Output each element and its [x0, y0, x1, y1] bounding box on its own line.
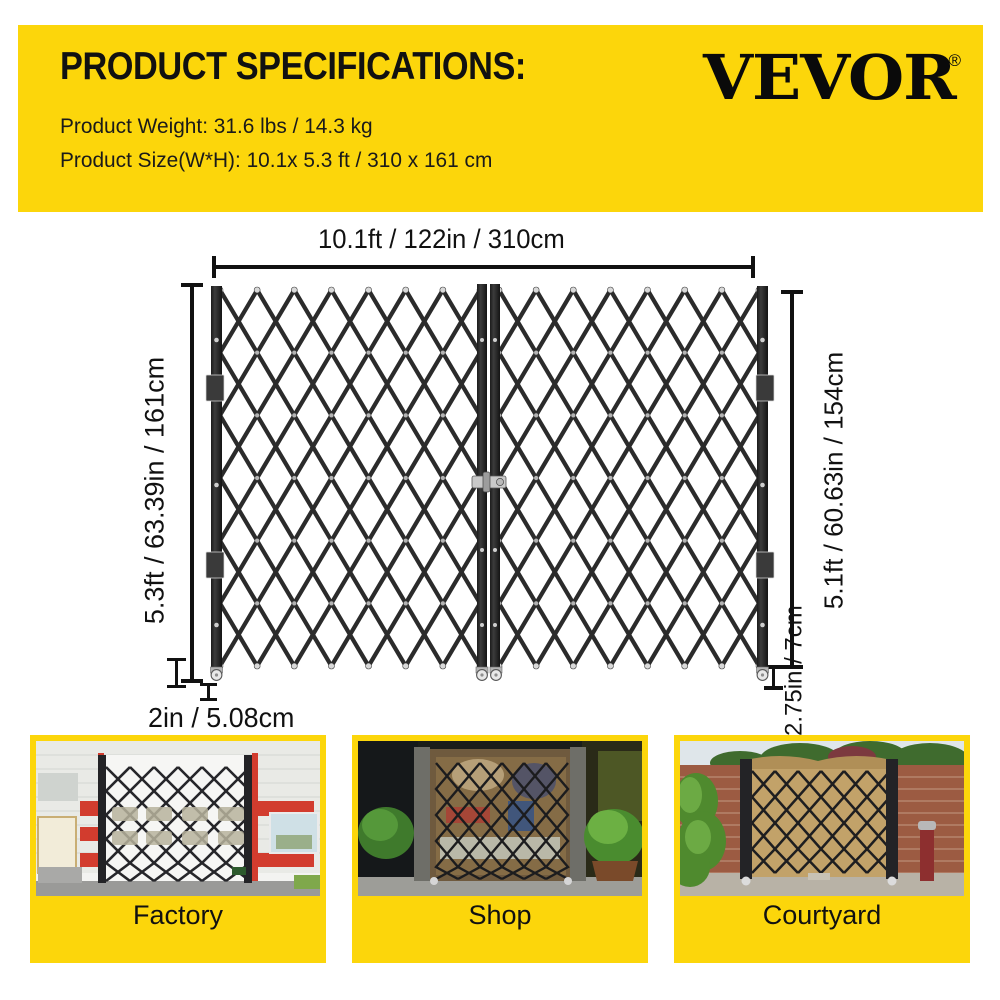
thumbnail-photo-shop	[358, 741, 642, 896]
lattice-panel-right	[496, 287, 762, 669]
top-dimension-cap-left	[212, 256, 216, 278]
thumbnail-card-factory[interactable]: Factory	[30, 735, 326, 963]
lattice-panel-left	[217, 287, 483, 669]
top-dimension-cap-right	[751, 256, 755, 278]
left-dimension-line	[190, 283, 194, 683]
top-dimension-line	[212, 265, 755, 269]
application-thumbnail-strip: Factory	[30, 735, 970, 963]
thumbnail-caption-courtyard: Courtyard	[674, 900, 970, 931]
thumbnail-photo-courtyard	[680, 741, 964, 896]
dimension-label-top-width: 10.1ft / 122in / 310cm	[318, 224, 565, 255]
dimension-label-post-width: 2in / 5.08cm	[148, 702, 294, 734]
thumbnail-photo-factory	[36, 741, 320, 896]
thumbnail-caption-factory: Factory	[30, 900, 326, 931]
header-banner: PRODUCT SPECIFICATIONS: Product Weight: …	[18, 25, 983, 212]
thumbnail-card-shop[interactable]: Shop	[352, 735, 648, 963]
post-width-dimension-cap-bottom	[200, 698, 217, 701]
dimension-label-right-height: 5.1ft / 60.63in / 154cm	[819, 281, 850, 681]
brand-name: VEVOR	[703, 47, 956, 109]
spec-product-size: Product Size(W*H): 10.1x 5.3 ft / 310 x …	[60, 148, 492, 173]
product-image-folding-gate	[200, 280, 800, 692]
thumbnail-card-courtyard[interactable]: Courtyard	[674, 735, 970, 963]
dimension-label-left-height: 5.3ft / 63.39in / 161cm	[140, 281, 171, 701]
bottom-left-dimension-line	[175, 658, 178, 688]
thumbnail-caption-shop: Shop	[352, 900, 648, 931]
brand-logo: VEVOR ®	[703, 47, 961, 109]
product-spec-page: PRODUCT SPECIFICATIONS: Product Weight: …	[0, 0, 1000, 1000]
page-title: PRODUCT SPECIFICATIONS:	[60, 45, 526, 89]
spec-product-weight: Product Weight: 31.6 lbs / 14.3 kg	[60, 114, 373, 139]
